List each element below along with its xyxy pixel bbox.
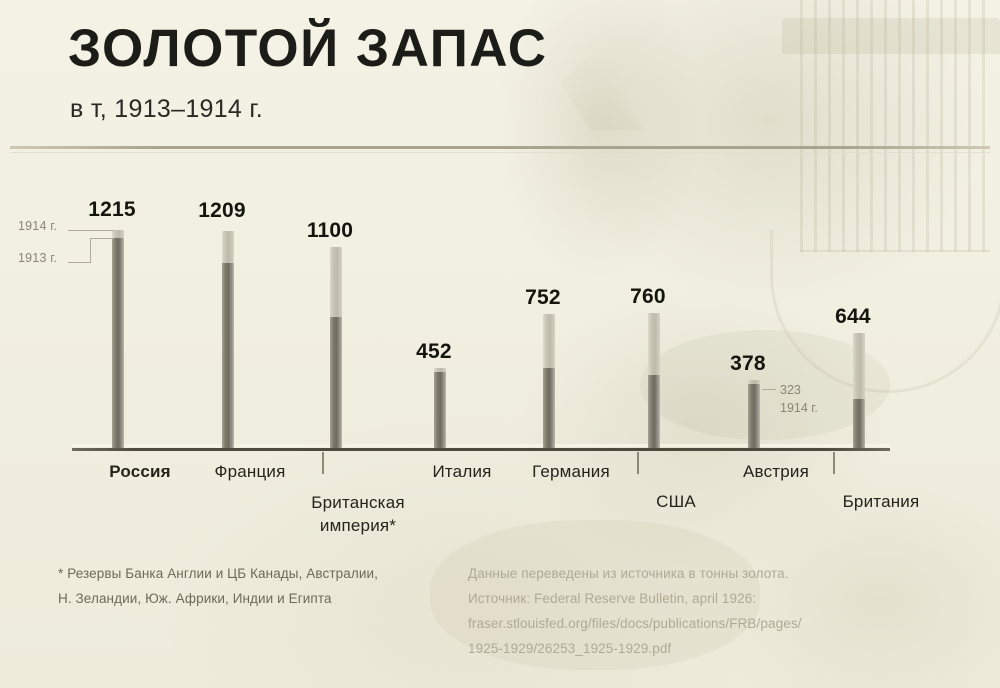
bar-segment-1913-0 bbox=[112, 238, 124, 448]
category-label-1[interactable]: Франция bbox=[160, 462, 340, 482]
bar-segment-1913-5 bbox=[648, 375, 660, 448]
leader-line-1913-horizontal bbox=[68, 262, 90, 263]
bar-3[interactable] bbox=[434, 368, 446, 448]
footnote-line-1: * Резервы Банка Англии и ЦБ Канады, Авст… bbox=[58, 562, 458, 587]
leader-line-1913-tip bbox=[90, 238, 114, 239]
leader-line-1913-vertical bbox=[90, 238, 91, 263]
axis-tick-1 bbox=[637, 452, 639, 474]
axis-tick-2 bbox=[833, 452, 835, 474]
bar-value-label-3: 452 bbox=[374, 340, 494, 364]
source-line-3: fraser.stlouisfed.org/files/docs/publica… bbox=[468, 612, 898, 637]
source-line-1: Данные переведены из источника в тонны з… bbox=[468, 562, 898, 587]
bar-segment-1914-5 bbox=[648, 313, 660, 375]
infographic-canvas: ЗОЛОТОЙ ЗАПАС в т, 1913–1914 г. 1215Росс… bbox=[0, 0, 1000, 688]
leader-line-austria bbox=[762, 389, 776, 390]
category-label-6[interactable]: Австрия bbox=[686, 462, 866, 482]
bar-segment-1914-2 bbox=[330, 247, 342, 317]
source-note: Данные переведены из источника в тонны з… bbox=[468, 562, 898, 662]
axis-highlight bbox=[72, 444, 890, 447]
category-label-4[interactable]: Германия bbox=[481, 462, 661, 482]
bar-7[interactable] bbox=[853, 333, 865, 448]
bar-segment-1914-1 bbox=[222, 231, 234, 263]
legend-label-1913: 1913 г. bbox=[18, 251, 57, 265]
bar-segment-1914-7 bbox=[853, 333, 865, 399]
bar-value-label-0: 1215 bbox=[52, 198, 172, 222]
bar-4[interactable] bbox=[543, 314, 555, 448]
source-line-4: 1925-1929/26253_1925-1929.pdf bbox=[468, 637, 898, 662]
bar-segment-1914-0 bbox=[112, 230, 124, 238]
bar-6[interactable] bbox=[748, 380, 760, 448]
bar-5[interactable] bbox=[648, 313, 660, 448]
bar-value-label-6: 378 bbox=[688, 352, 808, 376]
austria-callout: 323 1914 г. bbox=[780, 381, 818, 417]
footnote-line-2: Н. Зеландии, Юж. Африки, Индии и Египта bbox=[58, 587, 458, 612]
category-label-line1-2: Британская bbox=[268, 492, 448, 515]
source-line-2: Источник: Federal Reserve Bulletin, apri… bbox=[468, 587, 898, 612]
bar-value-label-2: 1100 bbox=[270, 219, 390, 243]
x-axis-line bbox=[72, 448, 890, 451]
bar-0[interactable] bbox=[112, 230, 124, 448]
footnote: * Резервы Банка Англии и ЦБ Канады, Авст… bbox=[58, 562, 458, 612]
austria-callout-value: 323 bbox=[780, 381, 818, 399]
bar-value-label-5: 760 bbox=[588, 285, 708, 309]
leader-line-1914 bbox=[68, 230, 114, 231]
austria-callout-year: 1914 г. bbox=[780, 399, 818, 417]
category-label-line2-2: империя* bbox=[268, 515, 448, 538]
category-label-5[interactable]: США bbox=[586, 492, 766, 512]
category-label-7[interactable]: Британия bbox=[791, 492, 971, 512]
bar-segment-1913-6 bbox=[748, 384, 760, 448]
bar-2[interactable] bbox=[330, 247, 342, 448]
bar-segment-1913-2 bbox=[330, 317, 342, 448]
bar-value-label-1: 1209 bbox=[162, 199, 282, 223]
bar-value-label-7: 644 bbox=[793, 305, 913, 329]
bar-segment-1913-7 bbox=[853, 399, 865, 448]
bar-value-label-4: 752 bbox=[483, 286, 603, 310]
bar-segment-1913-1 bbox=[222, 263, 234, 448]
bar-segment-1914-4 bbox=[543, 314, 555, 368]
bar-segment-1913-4 bbox=[543, 368, 555, 448]
bar-segment-1913-3 bbox=[434, 372, 446, 448]
bar-1[interactable] bbox=[222, 231, 234, 448]
legend-label-1914: 1914 г. bbox=[18, 219, 57, 233]
axis-tick-0 bbox=[322, 452, 324, 474]
category-label-2[interactable]: Британскаяимперия* bbox=[268, 492, 448, 538]
